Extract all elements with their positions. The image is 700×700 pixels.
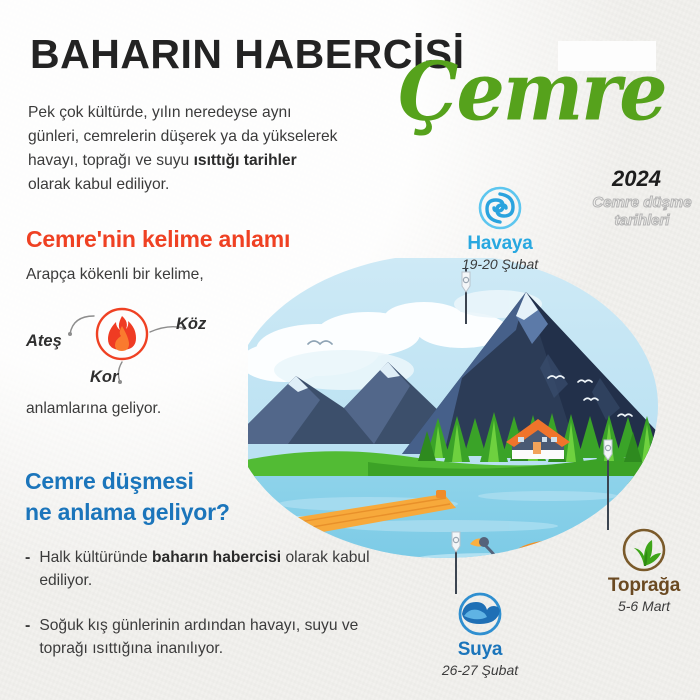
fire-label-ates: Ateş (26, 332, 62, 351)
fire-label-koz: Köz (176, 315, 206, 334)
wind-swirl-icon (478, 186, 522, 230)
falling-bullet-list: - Halk kültüründe baharın habercisi olar… (25, 546, 395, 682)
falling-heading-line-1: Cemre düşmesi (25, 468, 194, 494)
bullet-text-a: Halk kültüründe (39, 549, 152, 566)
badge-name: Havaya (440, 233, 560, 255)
falling-heading: Cemre düşmesi ne anlama geliyor? (25, 466, 230, 527)
badge-date: 19-20 Şubat (440, 256, 560, 272)
list-item: - Soğuk kış günlerinin ardından havayı, … (25, 614, 395, 661)
meaning-footer: anlamlarına geliyor. (26, 400, 161, 418)
intro-line-3a: havayı, toprağı ve suyu (28, 152, 194, 169)
bullet-text: Soğuk kış günlerinin ardından havayı, su… (39, 614, 395, 661)
badge-topraga[interactable]: Toprağa 5-6 Mart (588, 528, 700, 614)
fire-meaning-diagram: Ateş Köz Kor (22, 300, 252, 410)
badge-name: Toprağa (588, 575, 700, 597)
badge-havaya[interactable]: Havaya 19-20 Şubat (440, 186, 560, 272)
green-leaf-icon (622, 528, 666, 572)
badge-name: Suya (420, 639, 540, 661)
intro-emphasis: ısıttığı tarihler (194, 152, 297, 169)
bullet-marker: - (25, 546, 30, 593)
list-item: - Halk kültüründe baharın habercisi olar… (25, 546, 395, 593)
pin-connector-water (449, 530, 463, 594)
pin-connector-earth (601, 438, 615, 530)
falling-heading-line-2: ne anlama geliyor? (25, 499, 230, 525)
intro-paragraph: Pek çok kültürde, yılın neredeyse aynı g… (28, 101, 443, 196)
badge-date: 5-6 Mart (588, 598, 700, 614)
intro-line-1: Pek çok kültürde, yılın neredeyse aynı (28, 104, 292, 121)
bullet-text: Halk kültüründe baharın habercisi olarak… (39, 546, 395, 593)
intro-line-4: olarak kabul ediliyor. (28, 176, 169, 193)
intro-line-2: günleri, cemrelerin düşerek ya da yüksel… (28, 128, 337, 145)
year-label: 2024 (612, 166, 661, 192)
fire-label-kor: Kor (90, 368, 118, 387)
badge-date: 26-27 Şubat (420, 662, 540, 678)
year-caption: Cemre düşme tarihleri (592, 194, 692, 229)
bullet-marker: - (25, 614, 30, 661)
meaning-subtitle: Arapça kökenli bir kelime, (26, 266, 204, 284)
water-wave-icon (458, 592, 502, 636)
meaning-heading: Cemre'nin kelime anlamı (26, 226, 290, 253)
infographic-canvas: BAHARIN HABERCİSİ Çemre Pek çok kültürde… (0, 0, 700, 700)
bullet-text-bold: baharın habercisi (152, 549, 281, 566)
pin-connector-air (459, 268, 473, 326)
badge-suya[interactable]: Suya 26-27 Şubat (420, 592, 540, 678)
